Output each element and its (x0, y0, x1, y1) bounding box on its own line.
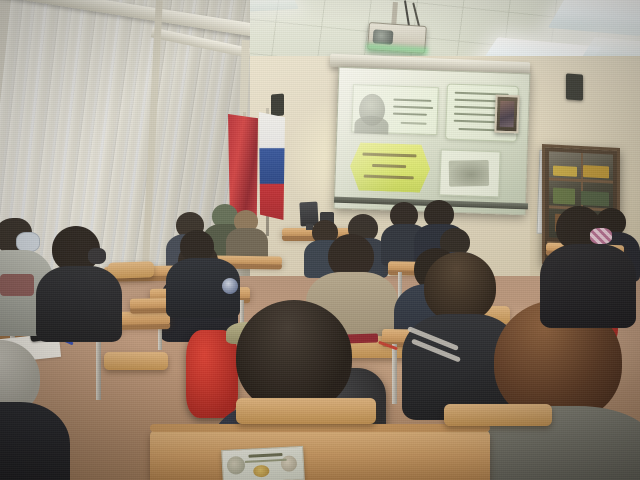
front-desk (150, 430, 490, 480)
cabinet-item (553, 166, 577, 177)
front-desk-edge (150, 424, 490, 432)
chair[interactable] (236, 398, 376, 424)
classroom-photo (0, 0, 640, 480)
cabinet-item (553, 188, 575, 205)
framed-portrait (494, 95, 519, 134)
flag-russia (259, 112, 285, 220)
projection-screen[interactable] (334, 67, 531, 216)
patterned-face-mask (590, 228, 612, 244)
booklet[interactable] (221, 446, 305, 480)
cabinet-item (581, 191, 609, 206)
chair[interactable] (104, 352, 168, 370)
booklet-illustration (281, 455, 298, 472)
booklet-illustration (253, 465, 270, 478)
wall-speaker-icon (566, 73, 583, 100)
booklet-illustration (227, 456, 246, 475)
flag-red (228, 114, 258, 220)
booklet-title-line (248, 453, 282, 458)
wall-speaker-icon (271, 94, 284, 117)
sleeve-patch-icon (222, 278, 238, 294)
projector-lens-icon (373, 29, 394, 44)
cabinet-item (583, 165, 609, 178)
chair[interactable] (444, 404, 552, 426)
screen-glare (335, 68, 530, 215)
framed-portrait-image (500, 101, 515, 127)
